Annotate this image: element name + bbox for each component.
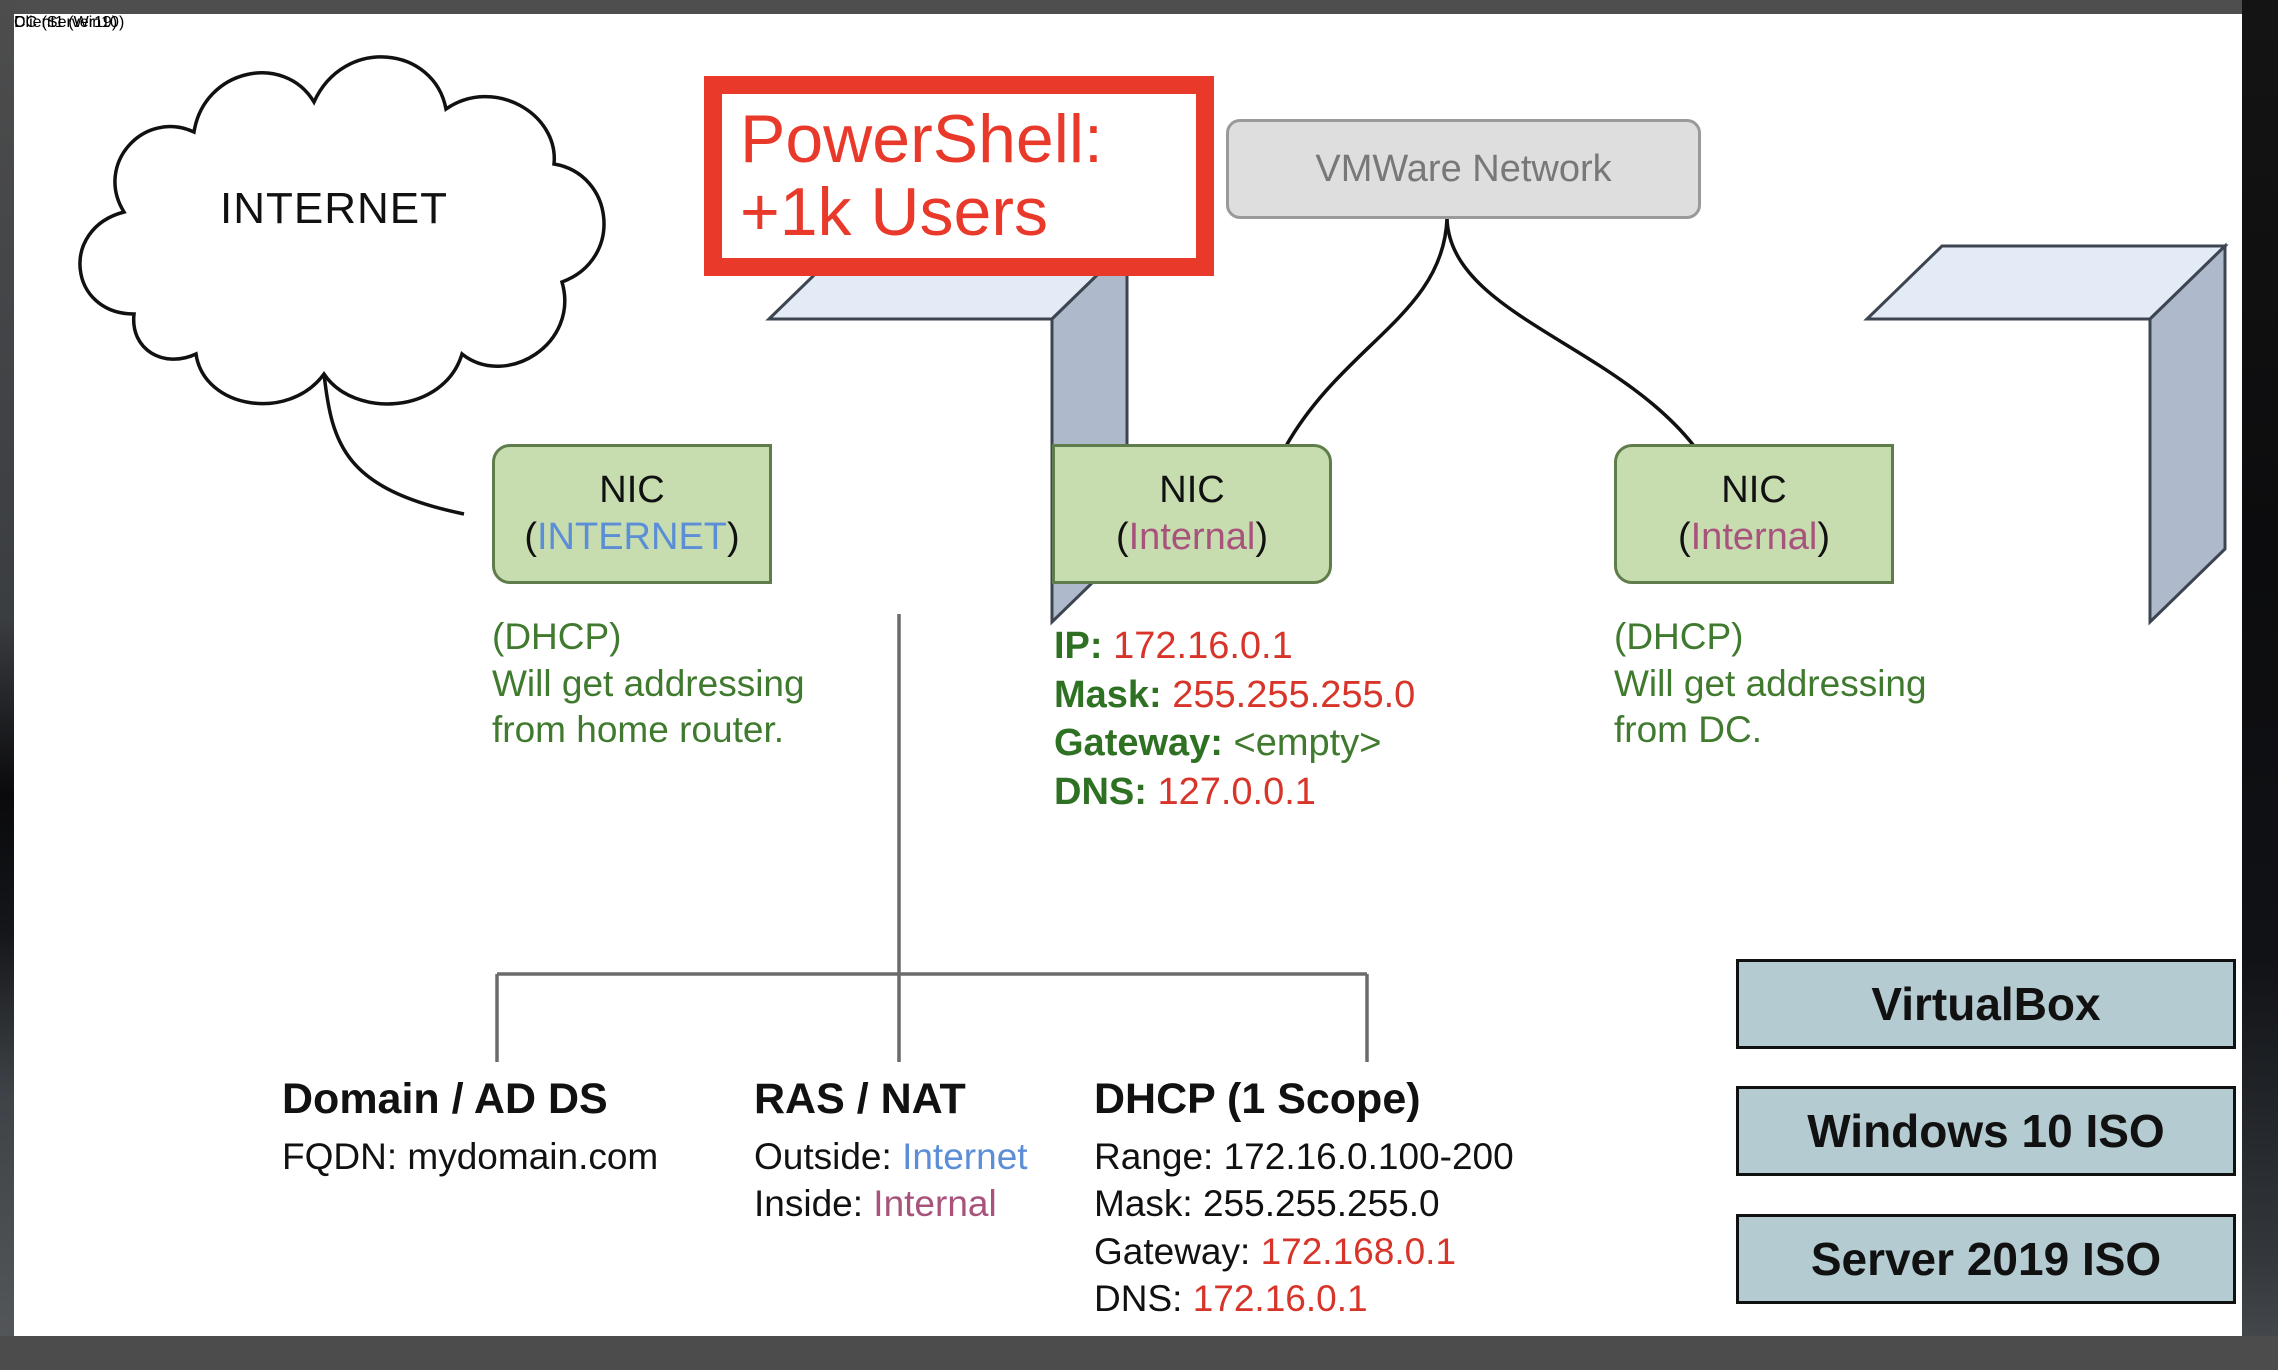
note-client-dhcp-line-1: (DHCP) <box>1614 614 1927 661</box>
ip-config-value-dns: 127.0.0.1 <box>1157 771 1315 813</box>
role-dhcp-line-range: Range: 172.16.0.100-200 <box>1094 1133 1514 1180</box>
role-dhcp-line-dns: DNS: 172.16.0.1 <box>1094 1275 1514 1322</box>
note-dc-dhcp-line-1: (DHCP) <box>492 614 805 661</box>
stack-box-win10-iso[interactable]: Windows 10 ISO <box>1736 1086 2236 1176</box>
stack-box-virtualbox[interactable]: VirtualBox <box>1736 959 2236 1049</box>
role-ras-nat-value-outside: Internet <box>902 1136 1027 1177</box>
nic-client-internal[interactable]: NIC (Internal) <box>1614 444 1894 584</box>
vmware-network-box[interactable]: VMWare Network <box>1226 119 1701 219</box>
stack-box-server2019-iso[interactable]: Server 2019 ISO <box>1736 1214 2236 1304</box>
note-dc-dhcp: (DHCP) Will get addressing from home rou… <box>492 614 805 754</box>
frame-edge-right <box>2242 0 2278 1370</box>
client-name: Client1 <box>14 14 64 31</box>
ip-config-row-ip: IP: 172.16.0.1 <box>1054 622 1415 671</box>
client-sub: (Win10) <box>68 14 124 31</box>
nic-dc-internal-network: (Internal) <box>1116 514 1268 562</box>
role-dhcp-label-dns: DNS: <box>1094 1278 1182 1319</box>
role-ras-nat-label-inside: Inside: <box>754 1183 863 1224</box>
screenshot-frame: INTERNET PowerShell: +1k Users VMWare Ne… <box>0 0 2278 1370</box>
powershell-banner: PowerShell: +1k Users <box>704 76 1214 276</box>
nic-client-internal-label: NIC <box>1721 467 1786 515</box>
nic-dc-internal[interactable]: NIC (Internal) <box>1052 444 1332 584</box>
role-ras-nat-title: RAS / NAT <box>754 1072 1028 1127</box>
note-client-dhcp: (DHCP) Will get addressing from DC. <box>1614 614 1927 754</box>
ip-config-value-mask: 255.255.255.0 <box>1172 674 1415 716</box>
nic-dc-internet[interactable]: NIC (INTERNET) <box>492 444 772 584</box>
role-domain-line-fqdn: FQDN: mydomain.com <box>282 1133 658 1180</box>
nic-dc-internal-label: NIC <box>1159 467 1224 515</box>
frame-edge-left <box>0 0 14 1370</box>
role-dhcp-value-mask: 255.255.255.0 <box>1203 1183 1440 1224</box>
role-ras-nat-line-inside: Inside: Internal <box>754 1180 1028 1227</box>
role-dhcp-line-mask: Mask: 255.255.255.0 <box>1094 1180 1514 1227</box>
dc-internal-ip-config: IP: 172.16.0.1 Mask: 255.255.255.0 Gatew… <box>1054 622 1415 817</box>
role-dhcp-label-range: Range: <box>1094 1136 1213 1177</box>
nic-dc-internet-network: (INTERNET) <box>524 514 739 562</box>
ip-config-key-ip: IP: <box>1054 625 1103 667</box>
ip-config-row-mask: Mask: 255.255.255.0 <box>1054 671 1415 720</box>
role-domain: Domain / AD DS FQDN: mydomain.com <box>282 1072 658 1180</box>
ip-config-row-gateway: Gateway: <empty> <box>1054 719 1415 768</box>
diagram-canvas: INTERNET PowerShell: +1k Users VMWare Ne… <box>14 14 2242 1336</box>
powershell-banner-line-2: +1k Users <box>740 176 1196 249</box>
client-node[interactable]: Client1 (Win10) <box>14 14 297 317</box>
role-dhcp-value-dns: 172.16.0.1 <box>1193 1278 1368 1319</box>
role-ras-nat: RAS / NAT Outside: Internet Inside: Inte… <box>754 1072 1028 1228</box>
role-dhcp-title: DHCP (1 Scope) <box>1094 1072 1514 1127</box>
role-domain-value-fqdn: mydomain.com <box>407 1136 658 1177</box>
ip-config-row-dns: DNS: 127.0.0.1 <box>1054 768 1415 817</box>
note-client-dhcp-line-2: Will get addressing <box>1614 661 1927 708</box>
role-dhcp-line-gateway: Gateway: 172.168.0.1 <box>1094 1228 1514 1275</box>
role-domain-title: Domain / AD DS <box>282 1072 658 1127</box>
ip-config-key-dns: DNS: <box>1054 771 1147 813</box>
role-dhcp-value-range: 172.16.0.100-200 <box>1224 1136 1514 1177</box>
ip-config-value-gateway: <empty> <box>1234 722 1382 764</box>
client-cube-3d <box>1867 246 2225 622</box>
link-vmnet-to-client-nic <box>1447 219 1694 446</box>
ip-config-value-ip: 172.16.0.1 <box>1113 625 1293 667</box>
role-dhcp: DHCP (1 Scope) Range: 172.16.0.100-200 M… <box>1094 1072 1514 1322</box>
frame-edge-bottom <box>0 1336 2278 1370</box>
role-ras-nat-label-outside: Outside: <box>754 1136 892 1177</box>
nic-dc-internet-label: NIC <box>599 467 664 515</box>
role-ras-nat-value-inside: Internal <box>873 1183 996 1224</box>
stack-box-server2019-iso-label: Server 2019 ISO <box>1811 1232 2161 1286</box>
stack-box-win10-iso-label: Windows 10 ISO <box>1807 1104 2164 1158</box>
note-dc-dhcp-line-2: Will get addressing <box>492 661 805 708</box>
role-ras-nat-line-outside: Outside: Internet <box>754 1133 1028 1180</box>
frame-edge-top <box>0 0 2278 14</box>
vmware-network-label: VMWare Network <box>1315 148 1611 191</box>
nic-client-internal-network: (Internal) <box>1678 514 1830 562</box>
role-domain-label-fqdn: FQDN: <box>282 1136 397 1177</box>
stack-box-virtualbox-label: VirtualBox <box>1871 977 2100 1031</box>
role-dhcp-label-gateway: Gateway: <box>1094 1231 1250 1272</box>
link-vmnet-to-dc-internal-nic <box>1286 219 1447 446</box>
powershell-banner-line-1: PowerShell: <box>740 103 1196 176</box>
ip-config-key-mask: Mask: <box>1054 674 1162 716</box>
ip-config-key-gateway: Gateway: <box>1054 722 1223 764</box>
role-dhcp-value-gateway: 172.168.0.1 <box>1261 1231 1456 1272</box>
client-cube-front: Client1 (Win10) <box>14 14 297 317</box>
role-dhcp-label-mask: Mask: <box>1094 1183 1193 1224</box>
note-dc-dhcp-line-3: from home router. <box>492 707 805 754</box>
note-client-dhcp-line-3: from DC. <box>1614 707 1927 754</box>
